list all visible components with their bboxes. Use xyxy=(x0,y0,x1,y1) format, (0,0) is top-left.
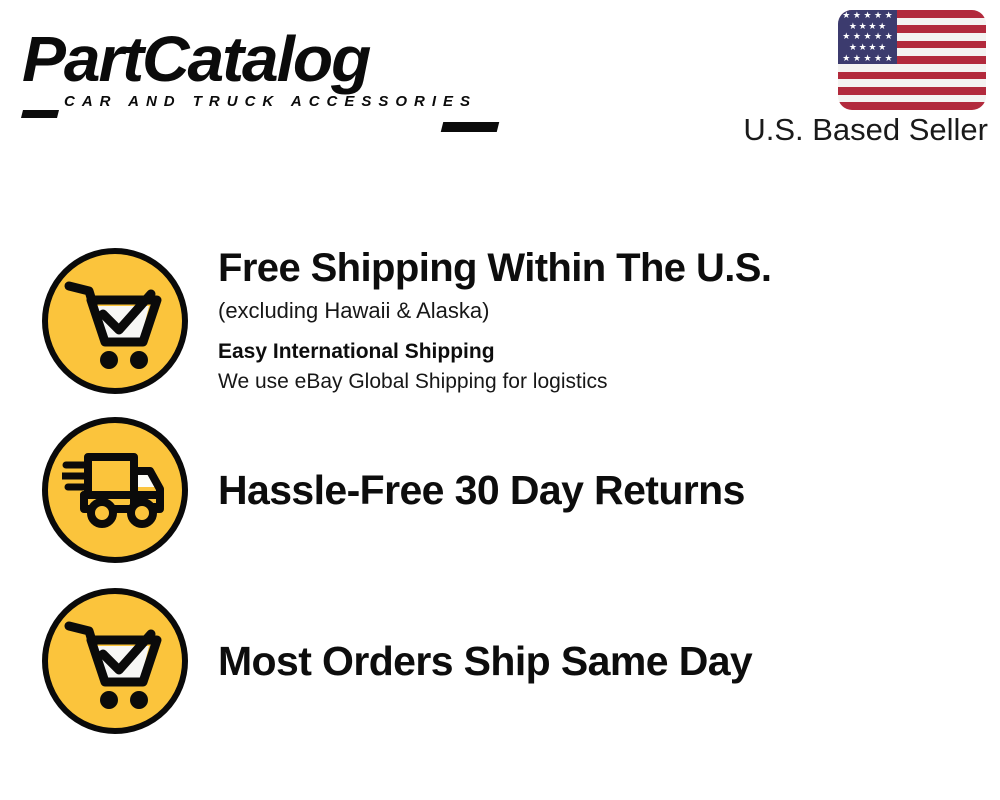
logo-wordmark: PartCatalog xyxy=(22,26,506,92)
us-flag-icon: ★★★★★ ★★★★ ★★★★★ ★★★★ ★★★★★ xyxy=(838,10,986,110)
feature-title: Most Orders Ship Same Day xyxy=(218,638,1000,684)
us-based-seller-label: U.S. Based Seller xyxy=(743,112,988,148)
brand-logo[interactable]: PartCatalog CAR AND TRUCK ACCESSORIES xyxy=(22,26,492,110)
feature-title: Free Shipping Within The U.S. xyxy=(218,245,1000,291)
us-based-seller-badge: ★★★★★ ★★★★ ★★★★★ ★★★★ ★★★★★ xyxy=(838,10,986,110)
feature-subtitle: (excluding Hawaii & Alaska) xyxy=(218,296,1000,326)
feature-subtitle-bold: Easy International Shipping xyxy=(218,338,1000,366)
logo-swoosh-accent xyxy=(441,122,499,132)
feature-subtitle-detail: We use eBay Global Shipping for logistic… xyxy=(218,368,1000,396)
shopping-cart-check-icon xyxy=(42,248,188,394)
feature-row: Hassle-Free 30 Day Returns xyxy=(0,417,1000,563)
feature-text-block: Most Orders Ship Same Day xyxy=(218,638,1000,684)
feature-text-block: Hassle-Free 30 Day Returns xyxy=(218,467,1000,513)
feature-row: Free Shipping Within The U.S. (excluding… xyxy=(0,245,1000,396)
shopping-cart-check-icon xyxy=(42,588,188,734)
page-header: PartCatalog CAR AND TRUCK ACCESSORIES ★★… xyxy=(0,0,1000,160)
delivery-truck-icon xyxy=(42,417,188,563)
logo-underline-accent xyxy=(21,110,59,118)
feature-text-block: Free Shipping Within The U.S. (excluding… xyxy=(218,245,1000,396)
feature-row: Most Orders Ship Same Day xyxy=(0,588,1000,734)
flag-canton: ★★★★★ ★★★★ ★★★★★ ★★★★ ★★★★★ xyxy=(838,10,897,64)
feature-title: Hassle-Free 30 Day Returns xyxy=(218,467,1000,513)
logo-tagline: CAR AND TRUCK ACCESSORIES xyxy=(64,93,492,110)
